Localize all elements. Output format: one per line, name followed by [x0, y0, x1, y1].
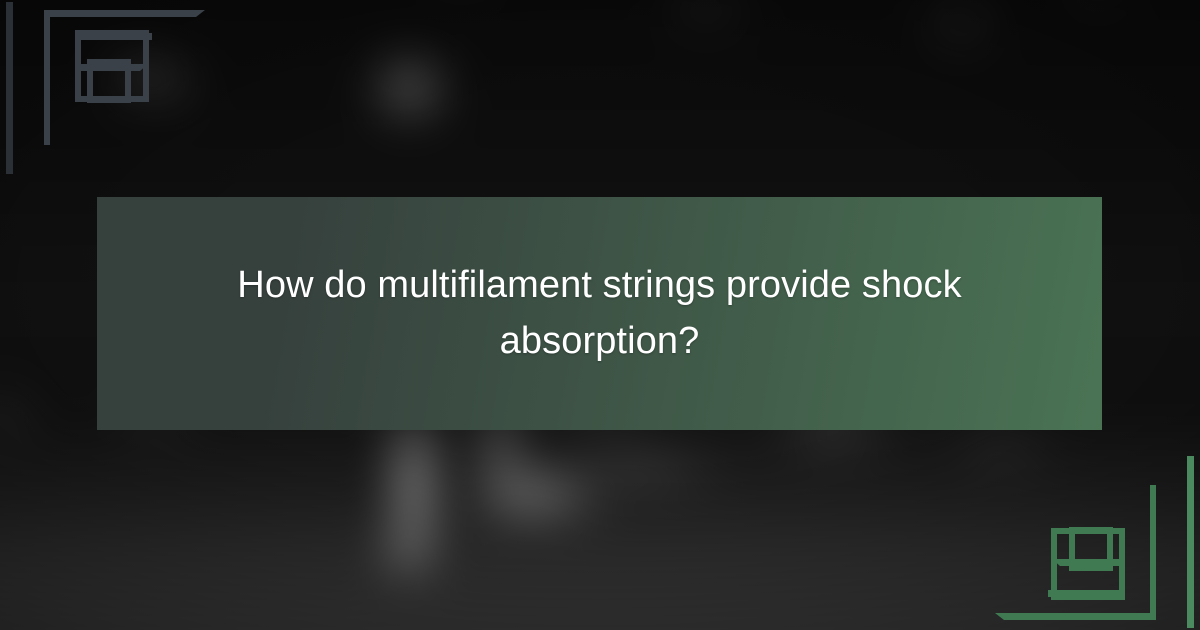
headline-card: How do multifilament strings provide sho…	[97, 197, 1102, 430]
headline-text: How do multifilament strings provide sho…	[205, 258, 995, 370]
og-image-canvas: How do multifilament strings provide sho…	[0, 0, 1200, 630]
